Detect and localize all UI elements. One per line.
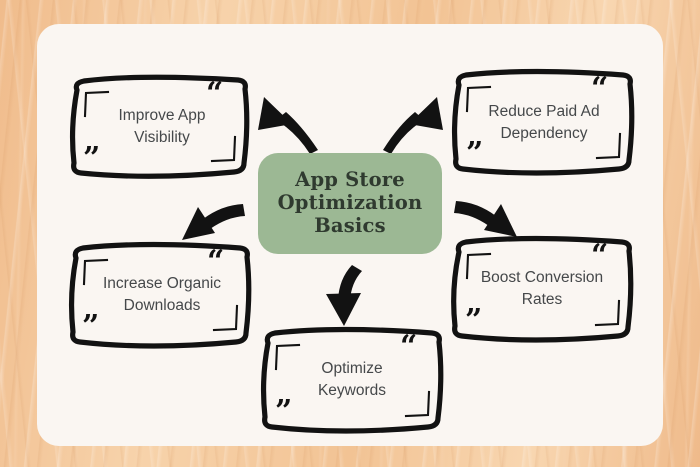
node-boost-conversion-rates[interactable] xyxy=(454,237,632,338)
arrow-to-improve-app-visibility xyxy=(258,97,318,154)
arrow-to-reduce-paid-ad-dependency xyxy=(383,97,443,154)
node-optimize-keywords[interactable] xyxy=(264,328,442,429)
center-node-app-store-optimization-basics[interactable]: App Store Optimization Basics xyxy=(258,153,442,254)
arrow-to-optimize-keywords xyxy=(326,265,362,326)
node-improve-app-visibility[interactable] xyxy=(74,76,248,177)
infographic-canvas: “ ” “ ” “ ” “ ” “ ” App Store Optimizati… xyxy=(0,0,700,467)
node-increase-organic-downloads[interactable] xyxy=(72,243,250,344)
center-node-label: App Store Optimization Basics xyxy=(278,169,423,237)
arrow-to-boost-conversion-rates xyxy=(454,201,517,237)
node-reduce-paid-ad-dependency[interactable] xyxy=(455,70,633,171)
arrow-to-increase-organic-downloads xyxy=(182,204,245,240)
